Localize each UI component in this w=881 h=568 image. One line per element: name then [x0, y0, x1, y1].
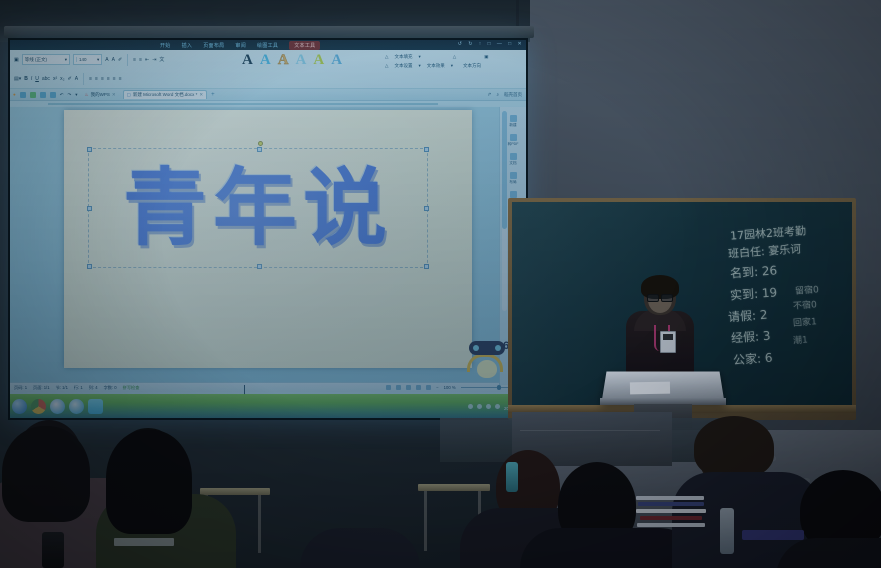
wordart-style-4[interactable]: A — [296, 53, 307, 68]
panel-item-doc-label: 文档 — [509, 161, 516, 166]
chevron-down-icon-2[interactable]: ▾ — [97, 57, 99, 63]
network-icon[interactable] — [468, 404, 473, 409]
volume-icon[interactable] — [495, 404, 500, 409]
wordart-style-2[interactable]: A — [260, 53, 271, 68]
document-page[interactable]: 青年说 — [64, 110, 472, 368]
restore-icon[interactable]: □ — [488, 41, 491, 47]
status-pages: 页面: 1/1 — [33, 385, 50, 391]
grow-font-button[interactable]: A — [105, 57, 108, 63]
restore-tab-icon[interactable]: ↱ — [488, 92, 492, 98]
panel-item-new[interactable]: 新建 — [509, 115, 516, 128]
new-icon[interactable] — [40, 92, 46, 98]
document-title-text[interactable]: 青年说 — [89, 149, 427, 267]
menu-item-drawing-tools[interactable]: 绘图工具 — [257, 42, 278, 49]
indent-decrease-button[interactable]: ⇤ — [145, 57, 149, 63]
view-print-layout-button[interactable] — [386, 385, 391, 390]
glasses-icon — [647, 294, 673, 300]
wordart-style-3[interactable]: A — [278, 53, 289, 68]
desk-leg-mid-a — [424, 491, 427, 551]
search-icon[interactable]: ⌕ — [496, 92, 499, 98]
menu-item-page-layout[interactable]: 页面布局 — [203, 42, 224, 49]
new-tab-button[interactable]: + — [211, 92, 215, 98]
tab-close-icon-2[interactable]: ✕ — [199, 92, 203, 98]
wordart-style-5[interactable]: A — [313, 53, 324, 68]
windows-taskbar[interactable]: 20:07 2018/1/21 — [10, 394, 526, 418]
redo-arrow-icon[interactable]: ↷ — [68, 92, 72, 98]
tab-my-wps[interactable]: ♨ 我的WPS ✕ — [82, 91, 119, 99]
status-page: 页码: 1 — [14, 385, 27, 391]
zoom-slider[interactable] — [461, 387, 515, 388]
indent-increase-button[interactable]: ⇥ — [152, 57, 156, 63]
align-left-button[interactable]: ≡ — [89, 76, 92, 82]
word-doc-icon: ▢ — [127, 92, 131, 98]
save-icon[interactable] — [20, 92, 26, 98]
wordart-style-1[interactable]: A — [242, 53, 253, 68]
start-button[interactable] — [12, 399, 27, 414]
open-icon[interactable] — [50, 92, 56, 98]
papers-left — [114, 538, 174, 546]
superscript-button[interactable]: x² — [53, 76, 57, 82]
document-scrollbar-thumb[interactable] — [502, 111, 507, 229]
text-direction-icon[interactable]: ▣ — [484, 54, 488, 60]
chalk-right-line-1: 留宿0 — [795, 282, 820, 297]
water-bottle-teal — [506, 462, 518, 492]
glass-bottle-center — [720, 508, 734, 554]
bold-button[interactable]: B — [24, 76, 28, 82]
menu-item-review[interactable]: 审阅 — [235, 42, 246, 49]
rotate-handle[interactable] — [258, 141, 263, 146]
student-left-2 — [100, 428, 230, 568]
layout-icon — [510, 172, 517, 179]
updates-icon[interactable] — [486, 404, 491, 409]
student-hair-5 — [694, 416, 774, 478]
text-setup-label[interactable]: 文本设置 — [394, 63, 412, 69]
panel-item-doc[interactable]: 文档 — [509, 153, 516, 166]
wordart-textbox[interactable]: 青年说 — [88, 148, 428, 268]
shrink-font-button[interactable]: A — [112, 57, 115, 63]
menu-item-start[interactable]: 开始 — [160, 42, 171, 49]
book-3 — [636, 509, 706, 513]
align-justify-button[interactable]: ≡ — [107, 76, 110, 82]
pdf-icon — [510, 134, 517, 141]
window-controls[interactable]: ↺ ↻ ↑ □ — □ ✕ — [458, 41, 522, 47]
zoom-out-button[interactable]: − — [436, 385, 438, 390]
cabinet-seam — [520, 430, 660, 431]
minimize-icon[interactable]: — — [497, 41, 502, 47]
panel-item-layout[interactable]: 布局 — [509, 172, 516, 185]
maximize-icon[interactable]: □ — [508, 41, 511, 47]
font-color-button[interactable]: A — [75, 76, 78, 82]
text-setup-row[interactable]: △ 文本设置 ▾ 文本效果 ▾ 文本方向 — [385, 63, 488, 69]
tab-word-document-label: 新建 Microsoft Word 文档.docx * — [133, 92, 197, 98]
view-web-layout-button[interactable] — [406, 385, 411, 390]
status-section: 节: 1/1 — [56, 385, 68, 391]
chat-icon[interactable] — [477, 404, 482, 409]
line-spacing-button[interactable]: ≡ — [119, 76, 122, 82]
chalk-line-5: 请假: 2 — [727, 306, 768, 326]
chalk-line-6: 经假: 3 — [730, 327, 771, 347]
chalk-right-line-2: 不宿0 — [793, 297, 818, 312]
pinyin-guide-button[interactable]: 文 — [159, 56, 164, 63]
text-tools-group[interactable]: △ 文本填充 ▾ △ ▣ △ 文本设置 ▾ 文本效果 ▾ 文本方向 — [385, 54, 488, 69]
undo-arrow-icon[interactable]: ↶ — [60, 92, 64, 98]
classroom-scene: 开始 插入 页面布局 审阅 绘图工具 文本工具 ↺ ↻ ↑ □ — □ ✕ — [0, 0, 881, 568]
italic-button[interactable]: I — [31, 76, 32, 82]
view-full-screen-button[interactable] — [396, 385, 401, 390]
share-icon[interactable]: ↑ — [479, 41, 482, 47]
chalk-line-3: 名到: 26 — [729, 261, 777, 281]
text-fill-label[interactable]: 文本填充 — [394, 54, 412, 60]
student-presenter — [624, 275, 694, 385]
zoom-slider-thumb[interactable] — [497, 385, 501, 390]
notebook-right — [742, 530, 804, 540]
panel-item-pdf[interactable]: 转PDF — [508, 134, 519, 147]
strikethrough-button[interactable]: abc — [42, 76, 50, 82]
book-4 — [640, 516, 702, 520]
gamepad-icon — [469, 341, 505, 355]
subscript-button[interactable]: x₂ — [60, 76, 64, 82]
menu-item-insert[interactable]: 插入 — [182, 42, 193, 49]
wps-logo-icon: ♨ — [85, 92, 89, 98]
tab-close-icon-1[interactable]: ✕ — [112, 92, 116, 98]
statusbar-right[interactable]: − 100 % + — [386, 385, 522, 390]
new-doc-icon — [510, 115, 517, 122]
clear-format-button[interactable]: ✐ — [118, 57, 122, 63]
status-spellcheck[interactable]: 拼写检查 — [123, 385, 140, 391]
wps-ribbon[interactable]: ▣ 等线 (正文) ▾ 140 ▾ A A ✐ ≡ ≡ ⇤ — [10, 50, 526, 89]
text-effect-label[interactable]: 文本效果 — [427, 63, 445, 69]
student-far-right — [300, 520, 420, 568]
chalk-line-7: 公家: 6 — [732, 349, 773, 369]
text-fill-row[interactable]: △ 文本填充 ▾ △ ▣ — [385, 54, 488, 60]
document-area[interactable]: 青年说 新建 转PDF — [10, 107, 526, 382]
book-1 — [636, 496, 704, 500]
chevron-down-icon-3[interactable]: ▾ — [418, 54, 420, 60]
status-col: 列: 4 — [89, 385, 98, 391]
wps-writer-window[interactable]: 开始 插入 页面布局 审阅 绘图工具 文本工具 ↺ ↻ ↑ □ — □ ✕ — [10, 40, 526, 418]
wordart-style-6[interactable]: A — [331, 53, 342, 68]
qq-browser-icon[interactable] — [50, 399, 65, 414]
chevron-down-icon[interactable]: ▾ — [65, 57, 67, 63]
align-center-button[interactable]: ≡ — [95, 76, 98, 82]
chevron-down-icon-4[interactable]: ▾ — [418, 63, 420, 69]
docer-home-label[interactable]: 稻壳首页 — [504, 92, 522, 98]
chalk-line-4: 实到: 19 — [729, 283, 777, 303]
tabbar-right-tools[interactable]: ↱ ⌕ 稻壳首页 — [488, 92, 522, 98]
ribbon-divider-2 — [83, 73, 84, 85]
name-badge — [660, 331, 676, 353]
tab-my-wps-label: 我的WPS — [91, 92, 110, 98]
projection-screen: 开始 插入 页面布局 审阅 绘图工具 文本工具 ↺ ↻ ↑ □ — □ ✕ — [10, 40, 526, 418]
student-shoulders-6 — [776, 538, 881, 568]
chrome-icon[interactable] — [31, 399, 46, 414]
print-icon[interactable] — [30, 92, 36, 98]
close-icon[interactable]: ✕ — [518, 41, 523, 47]
align-right-button[interactable]: ≡ — [101, 76, 104, 82]
book-stack — [636, 496, 706, 536]
student-hair-2 — [106, 430, 192, 534]
font-name-select[interactable]: 等线 (正文) ▾ — [22, 54, 70, 65]
doc-icon — [510, 153, 517, 160]
wps-statusbar[interactable]: 页码: 1 页面: 1/1 节: 1/1 行: 1 列: 4 字数: 0 拼写检… — [10, 382, 526, 392]
lectern-papers — [630, 382, 670, 395]
status-row: 行: 1 — [74, 385, 83, 391]
mascot-graphic — [477, 360, 497, 378]
style-box-icon[interactable]: ▣ — [14, 57, 19, 63]
menu-dot-icon[interactable]: ● — [13, 92, 16, 97]
thermos-left — [42, 532, 64, 568]
student-shoulders-7 — [300, 528, 420, 568]
book-2 — [638, 502, 704, 506]
wordart-gallery[interactable]: A A A A A A — [242, 53, 342, 68]
ribbon-row-2: ▤▾ B I U abc x² x₂ ✐ A ≡ ≡ ≡ ≡ ≡ ≡ — [10, 69, 526, 88]
book-5 — [637, 523, 705, 527]
text-direction-label[interactable]: 文本方向 — [463, 63, 481, 69]
wps-taskbar-icon[interactable] — [88, 399, 103, 414]
menu-item-text-tools[interactable]: 文本工具 — [289, 41, 320, 50]
panel-item-pdf-label: 转PDF — [508, 142, 519, 147]
chalk-right-line-4: 潮1 — [793, 333, 809, 347]
numbering-button[interactable]: ≡ — [139, 57, 142, 63]
view-reading-button[interactable] — [426, 385, 431, 390]
desk-leg-left-b — [258, 495, 261, 553]
student-right — [790, 470, 881, 568]
align-distribute-button[interactable]: ≡ — [113, 76, 116, 82]
zoom-level-label[interactable]: 100 % — [444, 385, 456, 390]
text-fill-icon[interactable]: △ — [385, 54, 388, 60]
panel-item-layout-label: 布局 — [509, 180, 516, 185]
student-hair — [2, 426, 90, 522]
image-icon — [510, 191, 517, 198]
undo-icon[interactable]: ↺ — [458, 41, 463, 47]
redo-icon[interactable]: ↻ — [468, 41, 473, 47]
status-words[interactable]: 字数: 0 — [104, 385, 117, 391]
highlight-button[interactable]: ✐ — [68, 76, 72, 82]
ribbon-divider-1 — [127, 54, 128, 66]
font-size-select[interactable]: 140 ▾ — [73, 54, 102, 65]
tab-word-document[interactable]: ▢ 新建 Microsoft Word 文档.docx * ✕ — [123, 90, 207, 99]
bullets-button[interactable]: ≡ — [133, 57, 136, 63]
text-setup-icon[interactable]: △ — [385, 63, 388, 69]
wps-tabbar[interactable]: ● ↶ ↷ ▾ ♨ 我的WPS ✕ ▢ 新建 Microsoft Word 文档… — [10, 89, 526, 101]
underline-button[interactable]: U — [35, 76, 39, 82]
chevron-down-icon-5[interactable]: ▾ — [451, 63, 453, 69]
quick-access-chevron-icon[interactable]: ▾ — [75, 92, 77, 98]
chalk-right-line-3: 回家1 — [793, 314, 818, 329]
panel-item-new-label: 新建 — [509, 123, 516, 128]
text-outline-icon[interactable]: △ — [453, 54, 456, 60]
view-outline-button[interactable] — [416, 385, 421, 390]
style-gallery-icon[interactable]: ▤▾ — [14, 76, 21, 82]
wps-menubar[interactable]: 开始 插入 页面布局 审阅 绘图工具 文本工具 ↺ ↻ ↑ □ — □ ✕ — [10, 40, 526, 50]
screen-roller — [4, 26, 534, 38]
edge-icon[interactable] — [69, 399, 84, 414]
